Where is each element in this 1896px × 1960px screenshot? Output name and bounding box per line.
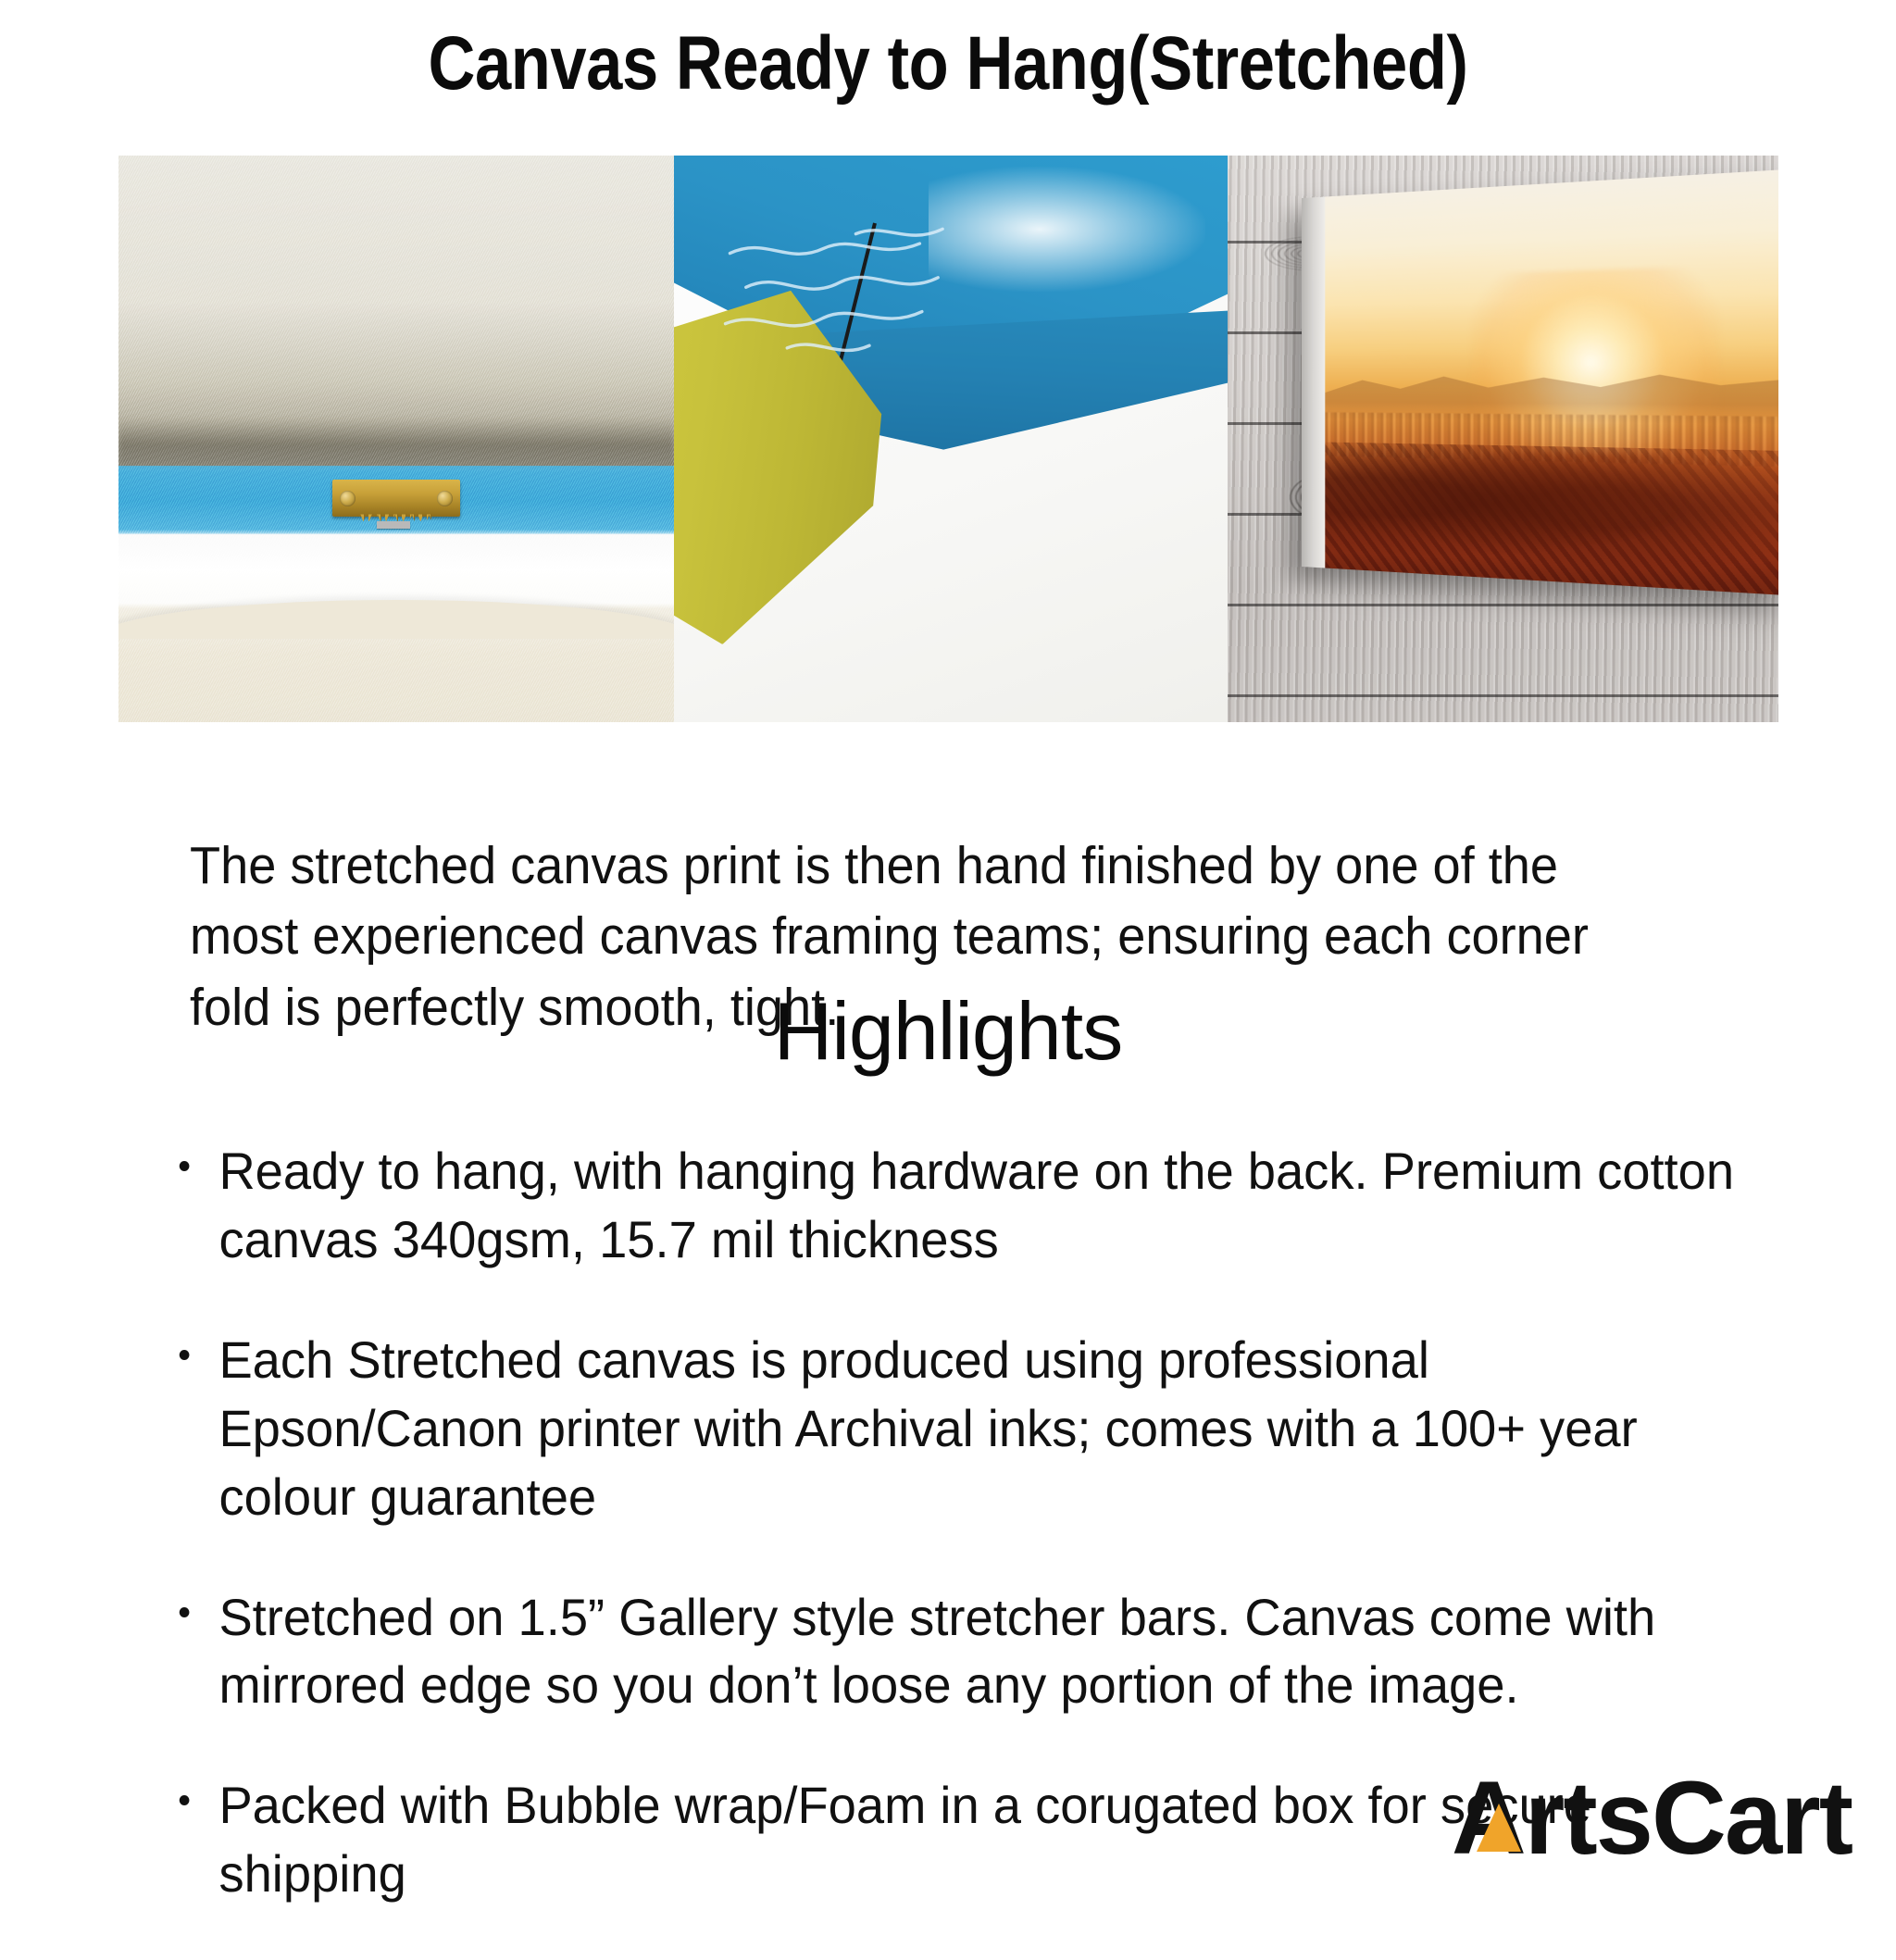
brand-logo: ArtsCart: [1452, 1759, 1852, 1870]
canvas-on-wood-wall-photo: [1228, 156, 1778, 722]
list-item-text: Stretched on 1.5” Gallery style stretche…: [218, 1588, 1655, 1715]
hanging-canvas: [1302, 169, 1778, 595]
triangle-accent-icon: [1477, 1804, 1521, 1852]
list-item-text: Ready to hang, with hanging hardware on …: [218, 1142, 1734, 1268]
list-item: Each Stretched canvas is produced using …: [172, 1326, 1735, 1531]
bullet-dot-icon: [180, 1161, 190, 1171]
corner-wave-lines: [718, 212, 1062, 382]
canvas-back-hanger-photo: [118, 156, 674, 722]
list-item-text: Each Stretched canvas is produced using …: [218, 1330, 1637, 1526]
page-title: Canvas Ready to Hang(Stretched): [132, 0, 1763, 102]
list-item: Stretched on 1.5” Gallery style stretche…: [172, 1583, 1735, 1720]
list-item-text: Packed with Bubble wrap/Foam in a coruga…: [218, 1776, 1591, 1903]
bullet-dot-icon: [180, 1795, 190, 1805]
canvas-corner-fold-photo: [674, 156, 1228, 722]
canvas-shadow-band: [118, 417, 674, 468]
sawtooth-hanger-icon: [332, 480, 460, 517]
highlights-heading: Highlights: [0, 989, 1896, 1074]
hanger-tab: [377, 521, 410, 528]
bullet-dot-icon: [180, 1607, 190, 1617]
bullet-dot-icon: [180, 1350, 190, 1360]
screw-left-icon: [340, 491, 355, 506]
screw-right-icon: [437, 491, 453, 506]
canvas-print-face: [1326, 169, 1778, 595]
product-image-strip: [118, 156, 1778, 722]
canvas-depth-side: [1302, 196, 1325, 568]
list-item: Ready to hang, with hanging hardware on …: [172, 1137, 1735, 1274]
